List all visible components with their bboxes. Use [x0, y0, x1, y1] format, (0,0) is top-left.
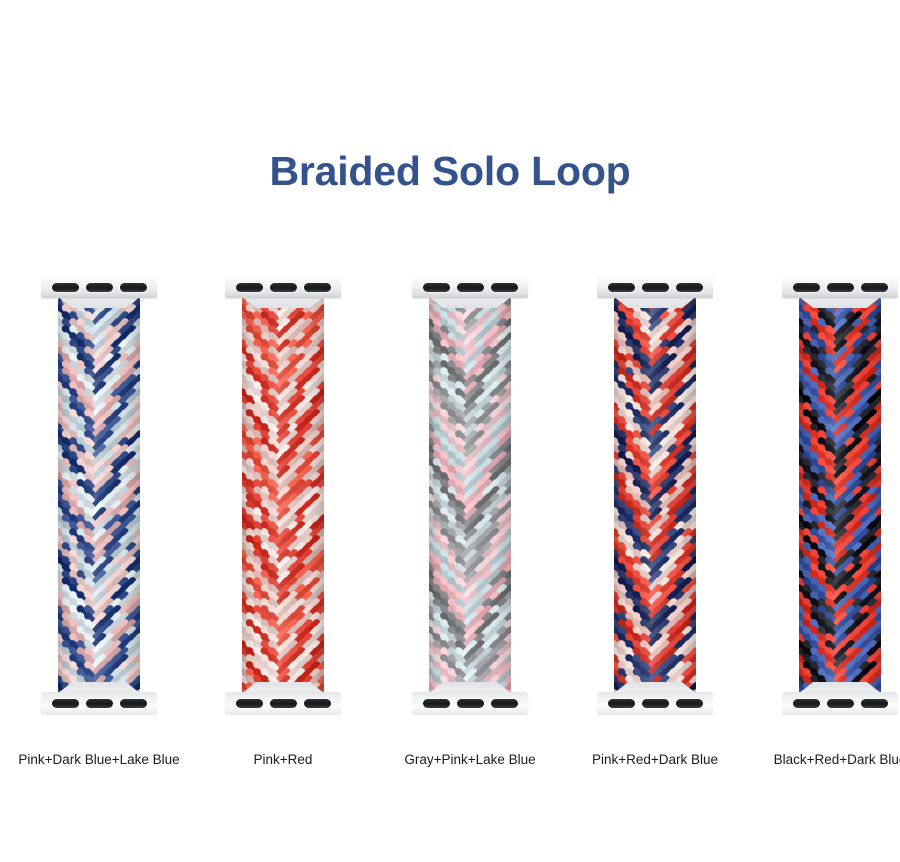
- connector-slot-icon: [457, 699, 484, 708]
- connector-slot-icon: [423, 283, 450, 292]
- connector-slot-group: [782, 692, 898, 714]
- connector-slot-icon: [270, 699, 297, 708]
- band-connector-top: [782, 276, 898, 308]
- connector-slot-group: [41, 692, 157, 714]
- connector-slot-icon: [236, 699, 263, 708]
- product-band-5[interactable]: Black+Red+Dark Blue: [750, 268, 900, 778]
- connector-slot-icon: [52, 699, 79, 708]
- connector-slot-group: [412, 692, 528, 714]
- band-connector-top: [225, 276, 341, 308]
- product-image-canvas: Braided Solo Loop Pink+Dark Blue+Lake Bl…: [0, 0, 900, 862]
- connector-slot-icon: [491, 283, 518, 292]
- connector-slot-icon: [236, 283, 263, 292]
- connector-slot-group: [225, 276, 341, 298]
- connector-slot-icon: [676, 283, 703, 292]
- connector-slot-icon: [827, 699, 854, 708]
- band-color-label: Pink+Red+Dark Blue: [565, 752, 745, 767]
- connector-slot-icon: [120, 283, 147, 292]
- band-color-label: Gray+Pink+Lake Blue: [380, 752, 560, 767]
- braided-weave: [614, 298, 696, 710]
- connector-slot-group: [597, 276, 713, 298]
- watch-band[interactable]: [750, 268, 900, 738]
- connector-slot-icon: [793, 699, 820, 708]
- connector-slot-icon: [827, 283, 854, 292]
- product-row: Pink+Dark Blue+Lake BluePink+RedGray+Pin…: [0, 268, 900, 778]
- connector-slot-icon: [86, 699, 113, 708]
- connector-slot-group: [41, 276, 157, 298]
- product-band-2[interactable]: Pink+Red: [193, 268, 373, 778]
- connector-slot-icon: [861, 699, 888, 708]
- connector-slot-icon: [120, 699, 147, 708]
- braided-weave: [799, 298, 881, 710]
- connector-slot-icon: [457, 283, 484, 292]
- braided-weave: [429, 298, 511, 710]
- connector-slot-group: [412, 276, 528, 298]
- page-title: Braided Solo Loop: [0, 148, 900, 195]
- band-color-label: Black+Red+Dark Blue: [750, 752, 900, 767]
- band-connector-top: [41, 276, 157, 308]
- product-band-1[interactable]: Pink+Dark Blue+Lake Blue: [9, 268, 189, 778]
- braided-weave: [58, 298, 140, 710]
- product-band-3[interactable]: Gray+Pink+Lake Blue: [380, 268, 560, 778]
- watch-band[interactable]: [193, 268, 373, 738]
- connector-slot-icon: [608, 283, 635, 292]
- connector-slot-icon: [676, 699, 703, 708]
- braided-weave: [242, 298, 324, 710]
- band-connector-bottom: [597, 692, 713, 724]
- connector-slot-icon: [608, 699, 635, 708]
- watch-band[interactable]: [380, 268, 560, 738]
- connector-slot-icon: [304, 699, 331, 708]
- band-connector-bottom: [41, 692, 157, 724]
- connector-slot-icon: [304, 283, 331, 292]
- connector-slot-group: [782, 276, 898, 298]
- connector-slot-icon: [86, 283, 113, 292]
- connector-slot-icon: [491, 699, 518, 708]
- band-connector-bottom: [225, 692, 341, 724]
- band-color-label: Pink+Red: [193, 752, 373, 767]
- band-connector-bottom: [412, 692, 528, 724]
- connector-slot-icon: [642, 699, 669, 708]
- connector-slot-icon: [423, 699, 450, 708]
- band-connector-top: [412, 276, 528, 308]
- band-color-label: Pink+Dark Blue+Lake Blue: [9, 752, 189, 767]
- band-connector-top: [597, 276, 713, 308]
- product-band-4[interactable]: Pink+Red+Dark Blue: [565, 268, 745, 778]
- watch-band[interactable]: [565, 268, 745, 738]
- connector-slot-group: [225, 692, 341, 714]
- connector-slot-group: [597, 692, 713, 714]
- connector-slot-icon: [52, 283, 79, 292]
- connector-slot-icon: [861, 283, 888, 292]
- connector-slot-icon: [270, 283, 297, 292]
- band-connector-bottom: [782, 692, 898, 724]
- watch-band[interactable]: [9, 268, 189, 738]
- connector-slot-icon: [642, 283, 669, 292]
- connector-slot-icon: [793, 283, 820, 292]
